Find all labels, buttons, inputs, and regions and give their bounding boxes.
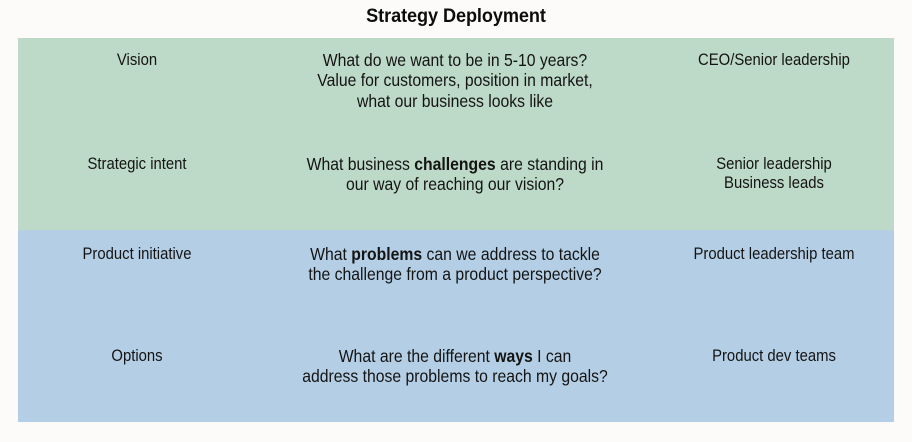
level-label: Options bbox=[18, 346, 256, 366]
question-line: What are the different ways I can bbox=[276, 346, 634, 366]
question-line: Value for customers, position in market, bbox=[276, 70, 634, 90]
text-run: address those problems to reach my goals… bbox=[302, 366, 608, 386]
strategy-matrix: VisionWhat do we want to be in 5-10 year… bbox=[18, 38, 894, 422]
question-line: what our business looks like bbox=[276, 91, 634, 111]
strategy-deployment-diagram: Strategy Deployment VisionWhat do we wan… bbox=[0, 0, 912, 442]
question-text: What are the different ways I canaddress… bbox=[256, 346, 654, 387]
text-run: can we address to tackle bbox=[422, 244, 600, 264]
owner-text: CEO/Senior leadership bbox=[654, 50, 894, 70]
text-run: I can bbox=[533, 346, 572, 366]
level-label: Product initiative bbox=[18, 244, 256, 264]
question-line: our way of reaching our vision? bbox=[276, 174, 634, 194]
owner-text: Product leadership team bbox=[654, 244, 894, 264]
text-run: our way of reaching our vision? bbox=[346, 174, 564, 194]
owner-line: Product leadership team bbox=[666, 245, 882, 264]
keyword-emphasis: ways bbox=[494, 346, 533, 366]
text-run: Value for customers, position in market, bbox=[317, 70, 592, 90]
text-run: What bbox=[310, 244, 351, 264]
matrix-row: OptionsWhat are the different ways I can… bbox=[18, 346, 894, 387]
question-text: What business challenges are standing in… bbox=[256, 154, 654, 195]
question-line: What do we want to be in 5-10 years? bbox=[276, 50, 634, 70]
level-label-text: Product initiative bbox=[30, 245, 244, 264]
question-text: What do we want to be in 5-10 years?Valu… bbox=[256, 50, 654, 111]
question-line: What business challenges are standing in bbox=[276, 154, 634, 174]
owner-line: Product dev teams bbox=[666, 347, 882, 366]
question-line: What problems can we address to tackle bbox=[276, 244, 634, 264]
owner-text: Senior leadershipBusiness leads bbox=[654, 154, 894, 194]
question-line: address those problems to reach my goals… bbox=[276, 366, 634, 386]
question-text: What problems can we address to tackleth… bbox=[256, 244, 654, 285]
matrix-row: Product initiativeWhat problems can we a… bbox=[18, 244, 894, 285]
level-label-text: Options bbox=[30, 347, 244, 366]
text-run: the challenge from a product perspective… bbox=[308, 264, 601, 284]
owner-text: Product dev teams bbox=[654, 346, 894, 366]
keyword-emphasis: challenges bbox=[414, 154, 495, 174]
level-label-text: Vision bbox=[30, 51, 244, 70]
owner-line: CEO/Senior leadership bbox=[666, 51, 882, 70]
level-label-text: Strategic intent bbox=[30, 155, 244, 174]
matrix-row: VisionWhat do we want to be in 5-10 year… bbox=[18, 50, 894, 111]
level-label: Vision bbox=[18, 50, 256, 70]
question-line: the challenge from a product perspective… bbox=[276, 264, 634, 284]
text-run: What do we want to be in 5-10 years? bbox=[323, 50, 587, 70]
matrix-row: Strategic intentWhat business challenges… bbox=[18, 154, 894, 195]
owner-line: Senior leadership bbox=[666, 155, 882, 174]
text-run: are standing in bbox=[496, 154, 604, 174]
text-run: What are the different bbox=[339, 346, 495, 366]
matrix-rows: VisionWhat do we want to be in 5-10 year… bbox=[18, 38, 894, 422]
level-label: Strategic intent bbox=[18, 154, 256, 174]
text-run: What business bbox=[307, 154, 415, 174]
keyword-emphasis: problems bbox=[351, 244, 422, 264]
owner-line: Business leads bbox=[666, 174, 882, 193]
page-title: Strategy Deployment bbox=[32, 5, 880, 28]
text-run: what our business looks like bbox=[357, 91, 553, 111]
